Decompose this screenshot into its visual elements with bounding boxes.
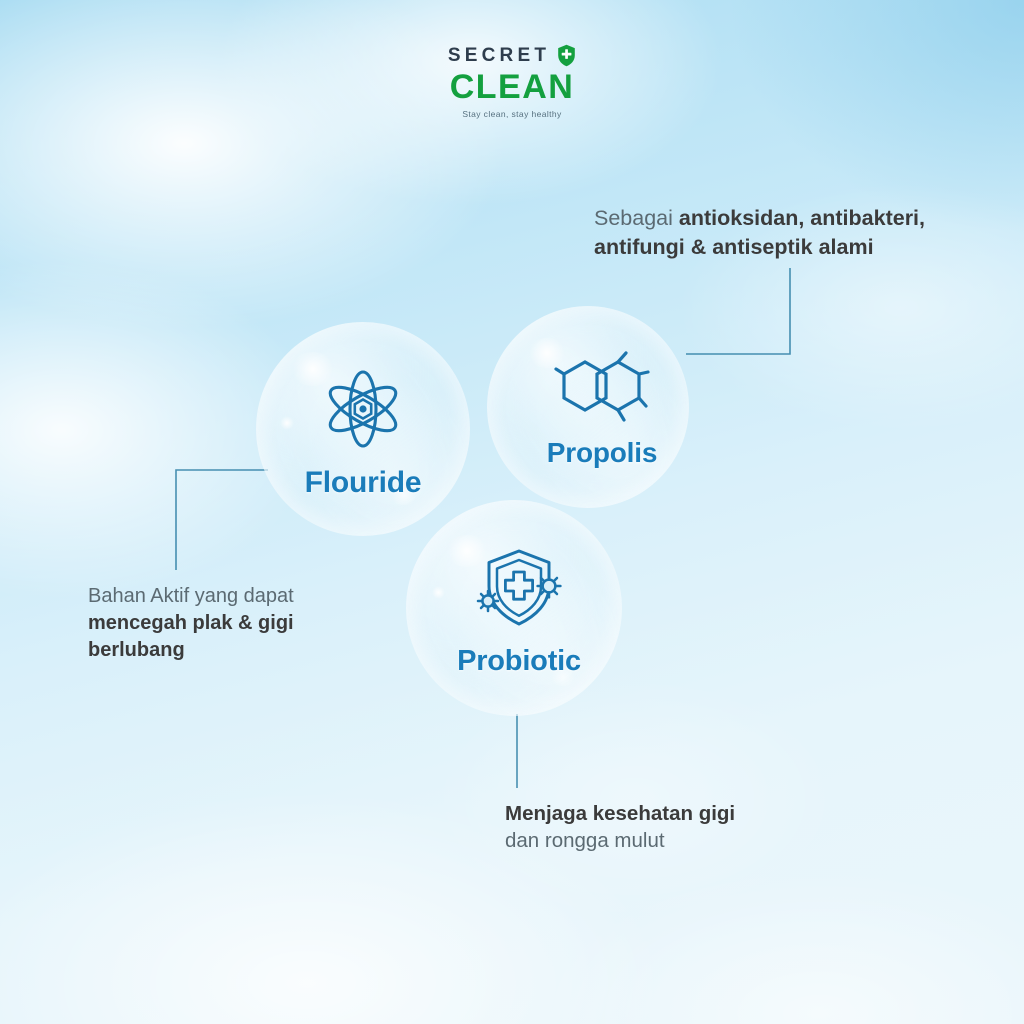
callout-flouride-regular: Bahan Aktif yang dapat (88, 585, 294, 607)
callout-probiotic-bold: Menjaga kesehatan gigi (505, 802, 735, 825)
bubble-probiotic[interactable]: Probiotic (406, 500, 622, 716)
callout-probiotic-regular: dan rongga mulut (505, 829, 665, 852)
callout-probiotic: Menjaga kesehatan gigi dan rongga mulut (505, 800, 835, 855)
bubble-label-probiotic: Probiotic (457, 645, 581, 678)
molecule-hexagon-icon (554, 350, 650, 429)
bubble-propolis[interactable]: Propolis (487, 306, 689, 508)
callout-flouride-bold-1: mencegah plak & gigi (88, 612, 294, 634)
callout-propolis: Sebagai antioksidan, antibakteri, antifu… (594, 204, 994, 262)
atom-icon (321, 367, 405, 456)
bubble-label-flouride: Flouride (305, 466, 422, 500)
callout-flouride-bold-2: berlubang (88, 639, 185, 661)
connector-flouride (176, 470, 268, 570)
callout-propolis-regular: Sebagai (594, 206, 679, 230)
callout-flouride: Bahan Aktif yang dapat mencegah plak & g… (88, 583, 356, 663)
callout-propolis-bold-1: antioksidan, antibakteri, (679, 206, 925, 230)
bubble-content: Probiotic (411, 500, 627, 716)
callout-propolis-bold-2: antifungi & antiseptik alami (594, 235, 874, 259)
shield-germ-protection-icon (473, 546, 565, 635)
bubble-content: Propolis (501, 306, 703, 508)
bubble-label-propolis: Propolis (547, 437, 657, 469)
